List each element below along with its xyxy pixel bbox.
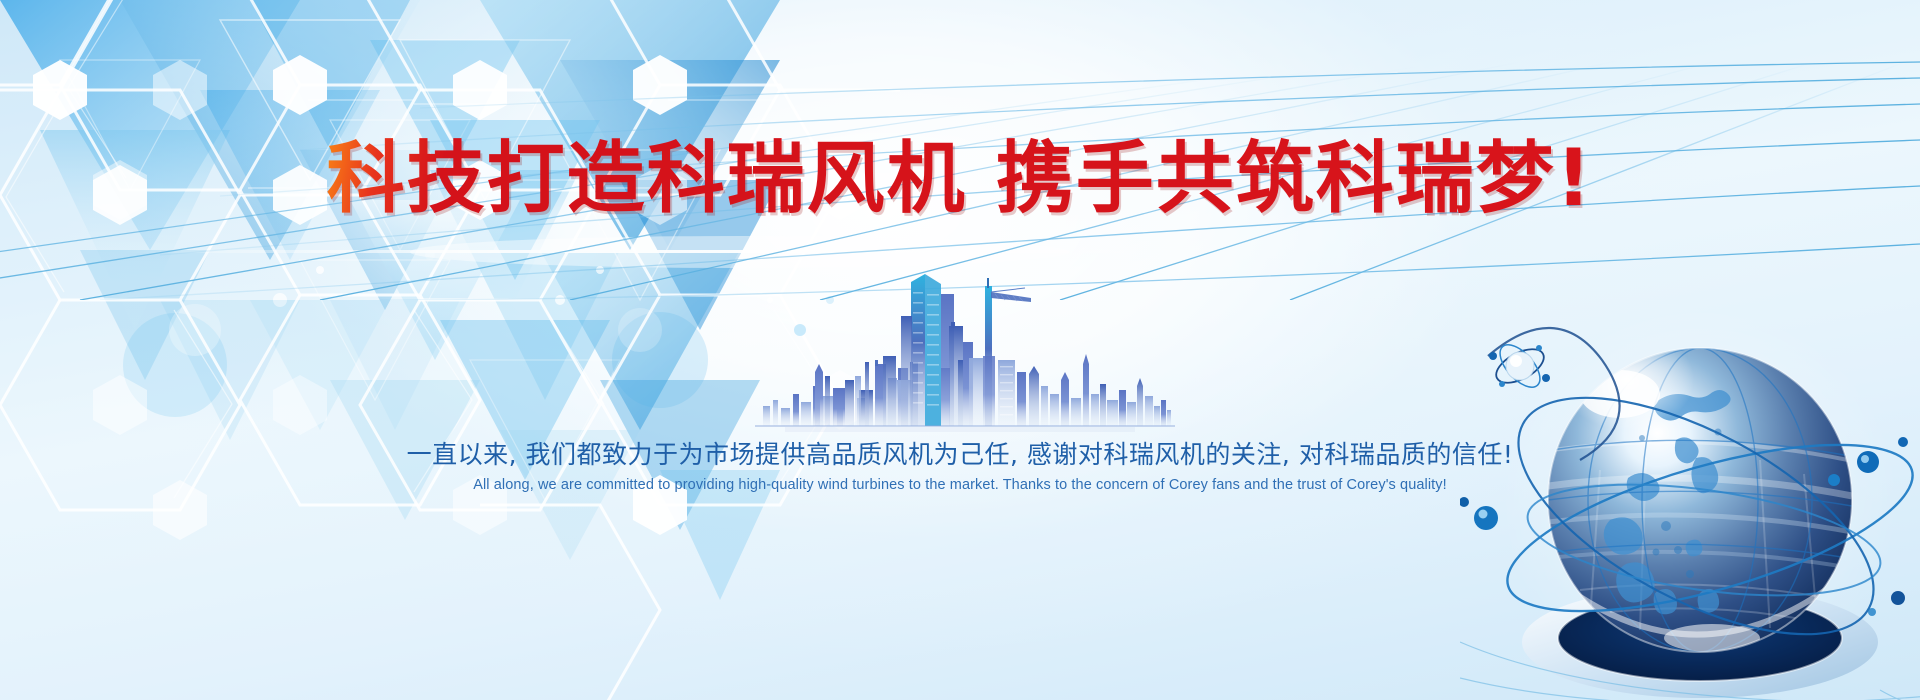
- banner-subtitle-en: All along, we are committed to providing…: [0, 477, 1920, 493]
- city-skyline-icon: [755, 268, 1175, 433]
- promo-banner: 科技打造科瑞风机 携手共筑科瑞梦!: [0, 0, 1920, 700]
- triangle-cluster-right-icon: [0, 0, 780, 620]
- glass-globe-icon: [1460, 290, 1920, 700]
- banner-headline-text: 科技打造科瑞风机 携手共筑科瑞梦!: [327, 134, 1594, 224]
- banner-headline: 科技打造科瑞风机 携手共筑科瑞梦!: [0, 140, 1920, 218]
- banner-subtitle-cn: 一直以来, 我们都致力于为市场提供高品质风机为己任, 感谢对科瑞风机的关注, 对…: [0, 435, 1920, 471]
- triangle-cluster-icon: [0, 0, 760, 480]
